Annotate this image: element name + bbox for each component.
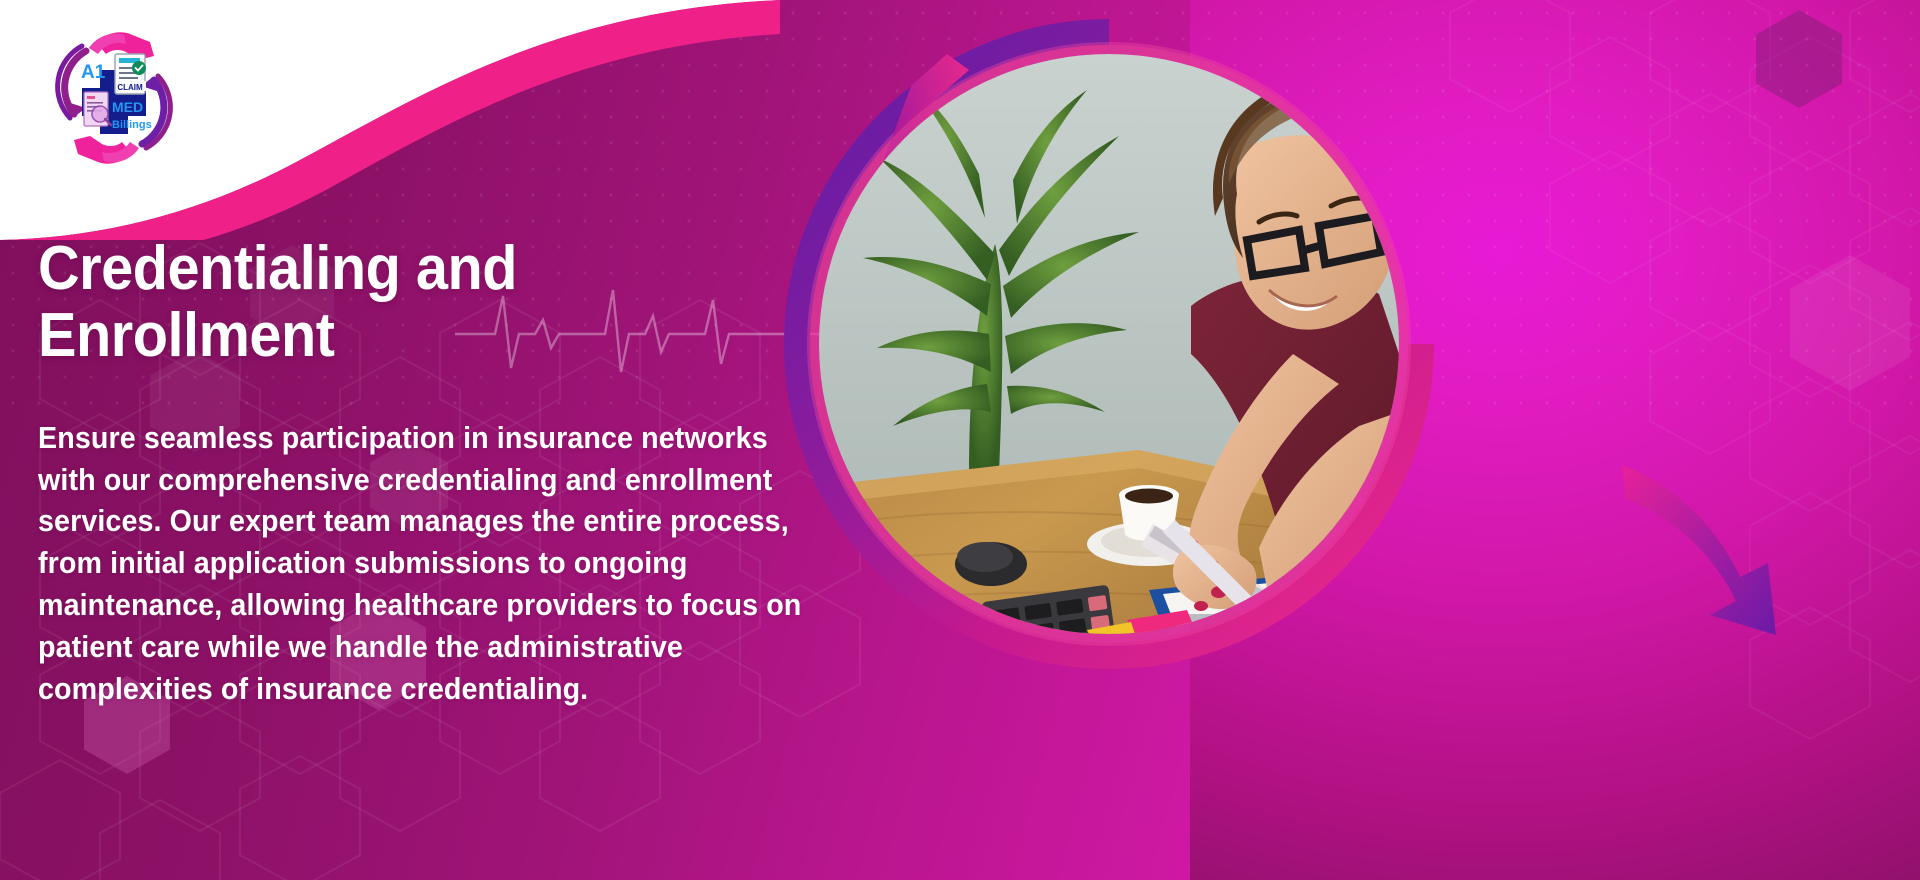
claim-label: CLAIM xyxy=(117,83,143,92)
headline-line-1: Credentialing and xyxy=(38,234,517,303)
credentialing-hero-banner: CLAIM A1 MED Billings xyxy=(0,0,1920,880)
hero-text-block: Credentialing and Enrollment Ensure seam… xyxy=(38,236,868,710)
hand-icon-bottom xyxy=(74,136,139,164)
brand-logo[interactable]: CLAIM A1 MED Billings xyxy=(34,18,194,178)
page-title: Credentialing and Enrollment xyxy=(38,236,810,370)
photo-circle-frame xyxy=(819,54,1399,634)
logo-med-text: MED xyxy=(112,99,143,115)
claim-document-icon: CLAIM xyxy=(115,54,146,94)
invoice-icon xyxy=(84,92,111,126)
arrow-right-decoration xyxy=(1600,455,1810,685)
headline-line-2: Enrollment xyxy=(38,303,810,370)
logo-billings-text: Billings xyxy=(112,119,152,131)
hero-photo-block xyxy=(779,14,1439,674)
logo-a1-text: A1 xyxy=(81,62,106,83)
office-photo xyxy=(819,54,1399,634)
hero-description: Ensure seamless participation in insuran… xyxy=(38,418,818,710)
